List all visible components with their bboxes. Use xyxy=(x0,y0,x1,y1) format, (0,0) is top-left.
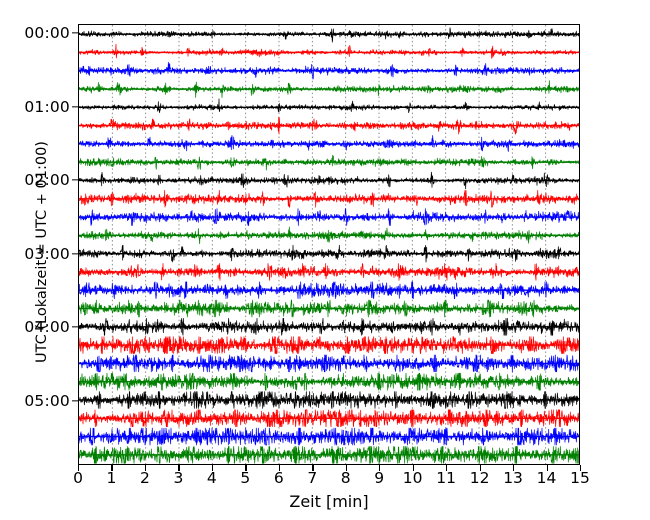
x-tick-mark xyxy=(245,465,246,471)
y-axis-label: UTC (Lokalzeit = UTC + 01:00) xyxy=(34,102,50,402)
x-axis-label: Zeit [min] xyxy=(78,492,580,511)
y-tick-mark xyxy=(72,106,79,107)
seismogram-traces xyxy=(79,25,579,464)
x-tick-label: 15 xyxy=(570,469,590,487)
x-tick-mark xyxy=(111,465,112,471)
x-tick-mark xyxy=(547,465,548,471)
seismogram-trace xyxy=(79,172,579,189)
x-tick-mark xyxy=(312,465,313,471)
x-tick-label: 1 xyxy=(107,469,117,487)
x-tick-label: 12 xyxy=(470,469,490,487)
x-tick-label: 4 xyxy=(207,469,217,487)
x-tick-mark xyxy=(78,465,79,471)
seismogram-trace xyxy=(79,117,579,134)
x-tick-label: 14 xyxy=(537,469,557,487)
x-tick-mark xyxy=(580,465,581,471)
seismogram-trace xyxy=(79,355,579,372)
seismogram-trace xyxy=(79,99,579,113)
seismogram-trace xyxy=(79,44,579,58)
y-tick-label: 00:00 xyxy=(24,24,70,42)
seismogram-chart-figure: 00:0001:0002:0003:0004:0005:00 012345678… xyxy=(0,0,650,520)
y-tick-mark xyxy=(72,327,79,328)
x-tick-mark xyxy=(212,465,213,471)
seismogram-trace xyxy=(79,300,579,317)
seismogram-trace xyxy=(79,209,579,226)
seismogram-trace xyxy=(79,155,579,170)
y-tick-mark xyxy=(72,400,79,401)
x-tick-label: 13 xyxy=(503,469,523,487)
x-tick-mark xyxy=(346,465,347,471)
x-tick-mark xyxy=(513,465,514,471)
x-tick-label: 3 xyxy=(173,469,183,487)
x-tick-mark xyxy=(413,465,414,471)
x-tick-mark xyxy=(178,465,179,471)
seismogram-trace xyxy=(79,318,579,335)
seismogram-trace xyxy=(79,337,579,354)
seismogram-trace xyxy=(79,392,579,409)
x-tick-mark xyxy=(379,465,380,471)
x-tick-label: 10 xyxy=(403,469,423,487)
x-axis-tick-labels: 0123456789101112131415 xyxy=(78,469,580,493)
y-tick-mark xyxy=(72,253,79,254)
y-tick-mark xyxy=(72,33,79,34)
x-tick-mark xyxy=(279,465,280,471)
x-tick-label: 7 xyxy=(307,469,317,487)
x-tick-label: 5 xyxy=(240,469,250,487)
x-tick-label: 11 xyxy=(436,469,456,487)
seismogram-trace xyxy=(79,81,579,98)
x-tick-mark xyxy=(446,465,447,471)
x-tick-label: 0 xyxy=(73,469,83,487)
plot-area xyxy=(78,24,580,465)
seismogram-trace xyxy=(79,135,579,151)
seismogram-trace xyxy=(79,264,579,281)
y-tick-mark xyxy=(72,180,79,181)
x-tick-label: 9 xyxy=(374,469,384,487)
seismogram-trace xyxy=(79,446,579,463)
x-tick-mark xyxy=(145,465,146,471)
x-tick-label: 6 xyxy=(274,469,284,487)
x-tick-label: 2 xyxy=(140,469,150,487)
seismogram-trace xyxy=(79,428,579,445)
seismogram-trace xyxy=(79,28,579,42)
x-tick-label: 8 xyxy=(341,469,351,487)
x-tick-mark xyxy=(480,465,481,471)
